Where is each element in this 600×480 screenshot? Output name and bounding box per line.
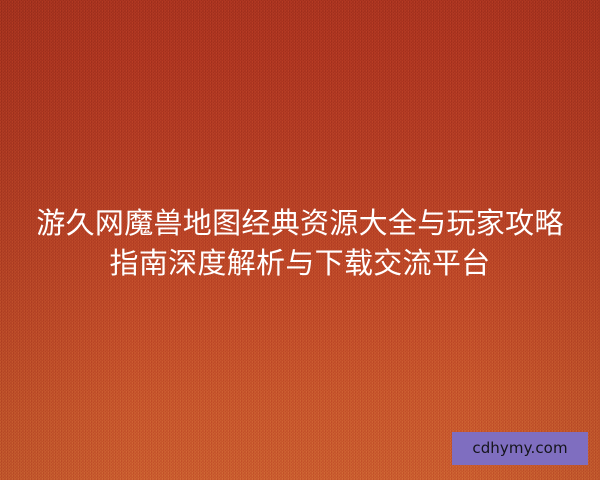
title-line-2: 指南深度解析与下载交流平台 — [10, 243, 590, 283]
banner-image: 游久网魔兽地图经典资源大全与玩家攻略 指南深度解析与下载交流平台 cdhymy.… — [0, 0, 600, 480]
watermark-label: cdhymy.com — [472, 441, 567, 456]
watermark-badge: cdhymy.com — [452, 432, 588, 465]
title-line-1: 游久网魔兽地图经典资源大全与玩家攻略 — [10, 203, 590, 243]
banner-title: 游久网魔兽地图经典资源大全与玩家攻略 指南深度解析与下载交流平台 — [0, 203, 600, 283]
